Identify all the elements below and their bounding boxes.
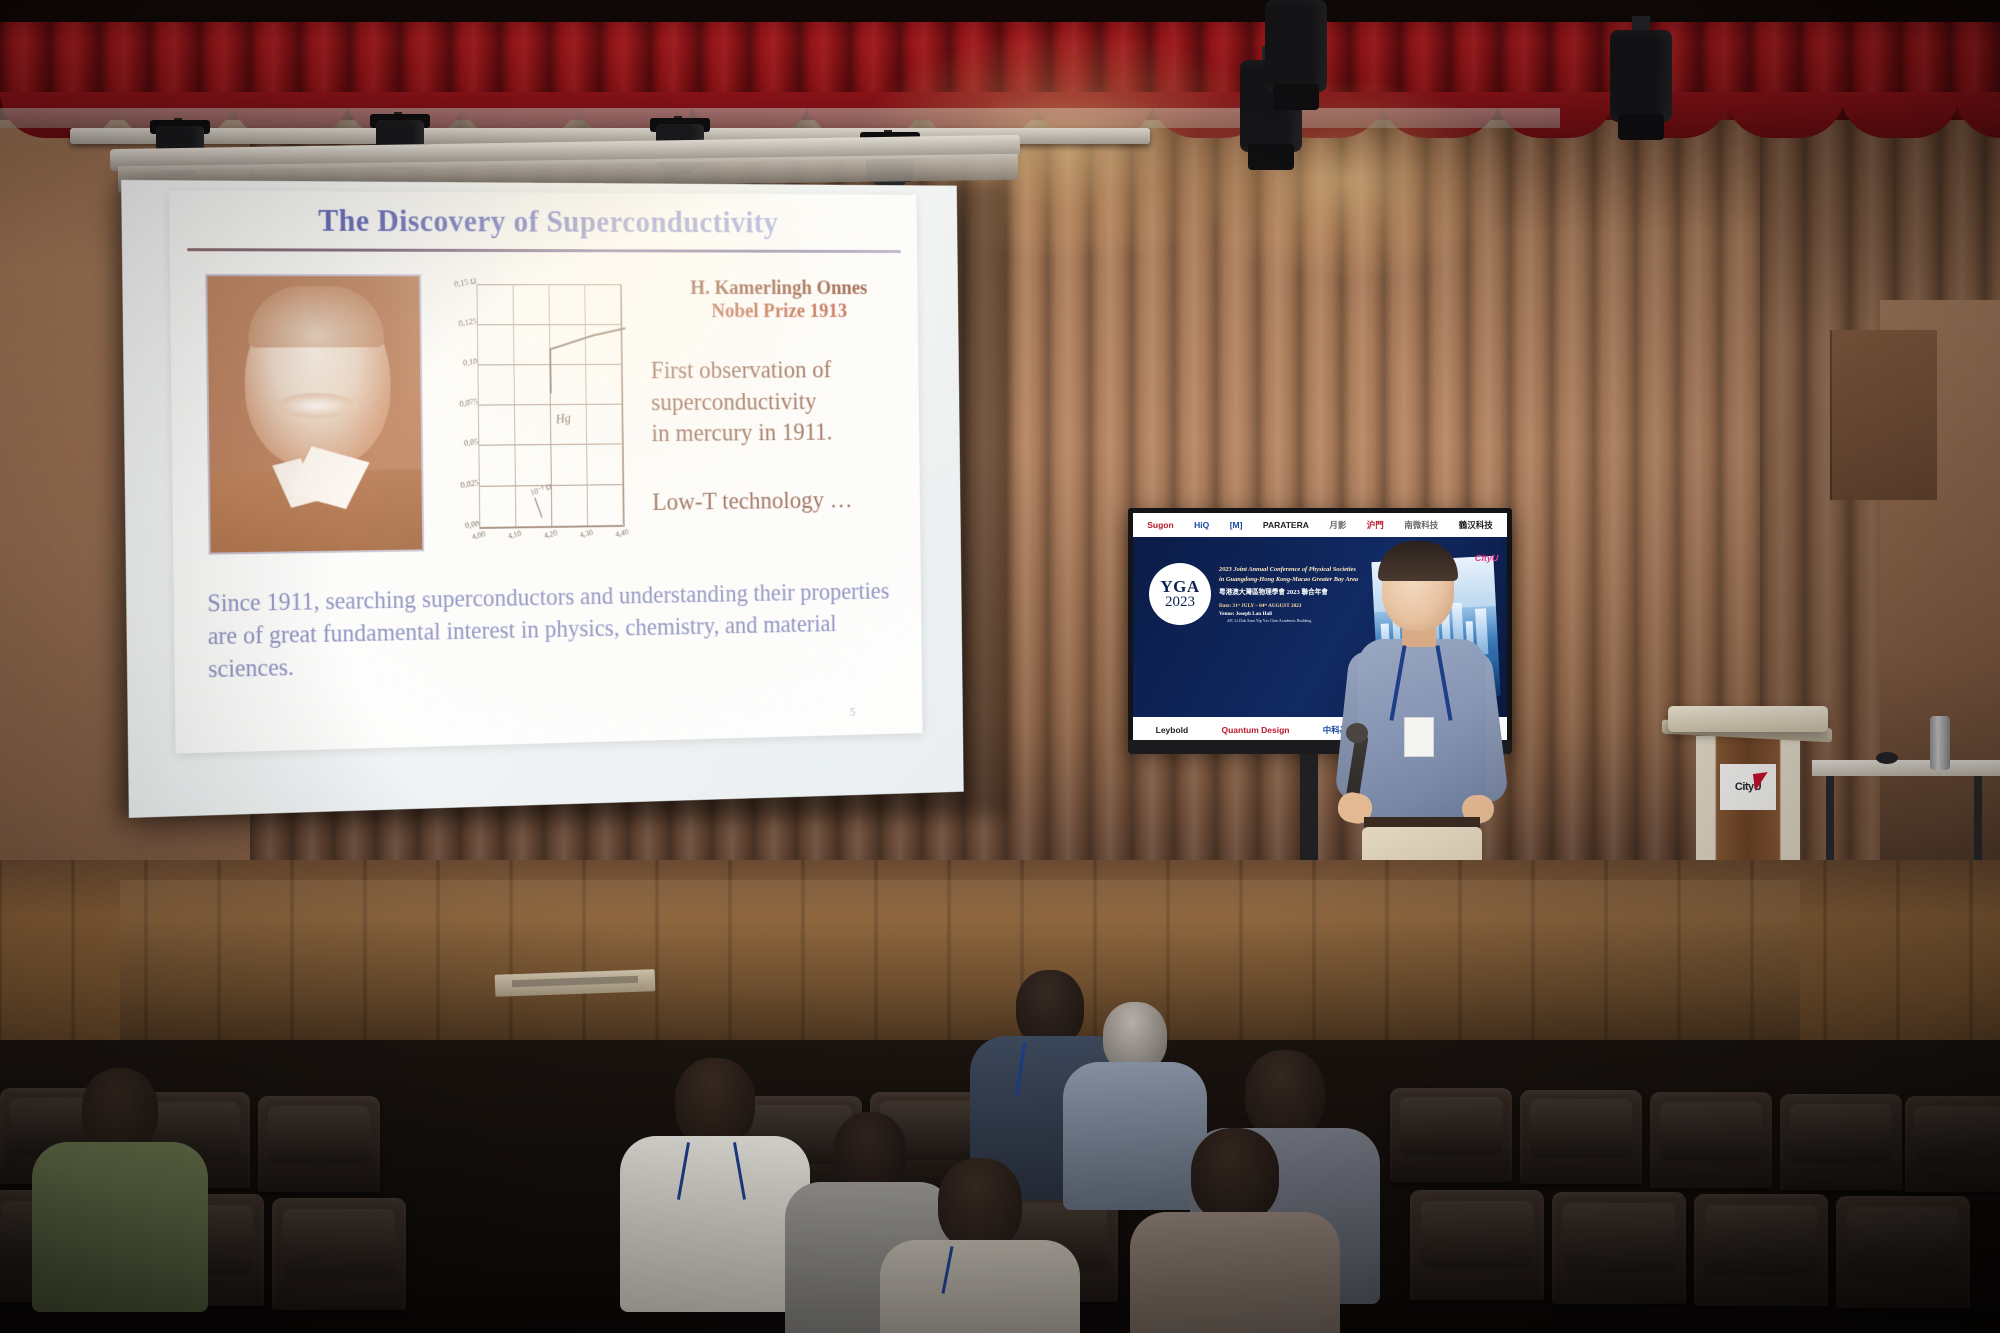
yga-badge-year: 2023 xyxy=(1165,595,1195,610)
projection-screen: The Discovery of Superconductivity xyxy=(121,180,964,818)
onnes-prize-line: Nobel Prize 1913 xyxy=(650,300,907,324)
lectern-top-surface xyxy=(1668,706,1828,732)
wall-acoustic-panel xyxy=(1830,330,1937,500)
onnes-name-caption: H. Kamerlingh Onnes Nobel Prize 1913 xyxy=(650,277,907,324)
slide-low-t-line: Low-T technology … xyxy=(652,486,909,516)
audience-seat xyxy=(1836,1196,1970,1308)
presentation-slide: The Discovery of Superconductivity xyxy=(169,190,923,753)
cityu-logo: CityU xyxy=(1720,764,1776,810)
slide-title: The Discovery of Superconductivity xyxy=(169,202,917,240)
chart-y-tick: 0,10 xyxy=(441,356,478,372)
lecture-hall-photograph: The Discovery of Superconductivity xyxy=(0,0,2000,1333)
audience-seat xyxy=(1520,1090,1642,1184)
audience-seat xyxy=(1390,1088,1512,1182)
sponsor-logo: [M] xyxy=(1230,520,1243,530)
audience-seat xyxy=(1694,1194,1828,1306)
audience-seating-area xyxy=(0,1040,2000,1333)
chart-y-tick: 0,075 xyxy=(441,396,478,412)
sponsor-logo: Sugon xyxy=(1147,520,1173,530)
audience-person xyxy=(1130,1128,1340,1333)
onnes-portrait-photo xyxy=(205,274,424,555)
sponsor-logo: Leybold xyxy=(1156,725,1189,735)
sponsor-logo: 沪門 xyxy=(1367,519,1384,531)
cityu-logo-flag-icon xyxy=(1753,772,1770,791)
sponsor-logo: HiQ xyxy=(1194,520,1209,530)
onnes-resistance-chart: 0,15 Ω 0,125 0,10 0,075 0,05 0,025 0,00 … xyxy=(444,274,632,549)
audience-person xyxy=(30,1068,210,1308)
audience-seat xyxy=(272,1198,406,1310)
slide-right-text-column: H. Kamerlingh Onnes Nobel Prize 1913 Fir… xyxy=(650,277,910,517)
sponsor-logo: 鶴汉科技 xyxy=(1459,519,1493,531)
chart-x-tick: 4,40 xyxy=(615,527,630,539)
audience-seat xyxy=(1905,1096,2000,1192)
slide-body-line: First observation of xyxy=(651,355,908,387)
slide-page-number: 5 xyxy=(850,705,856,719)
onnes-name-line: H. Kamerlingh Onnes xyxy=(650,277,907,300)
chart-y-tick: 0,05 xyxy=(442,436,479,452)
audience-seat xyxy=(1780,1094,1902,1190)
ceiling-strip xyxy=(0,0,2000,22)
chart-y-tick: 0,125 xyxy=(440,316,477,332)
side-table xyxy=(1812,760,2000,776)
slide-body-text: First observation of superconductivity i… xyxy=(651,355,909,450)
audience-seat xyxy=(258,1096,380,1192)
chart-x-tick: 4,00 xyxy=(471,529,486,541)
chart-y-tick: 0,025 xyxy=(442,477,479,493)
slide-body-line: superconductivity xyxy=(651,386,908,419)
audience-person xyxy=(880,1158,1080,1333)
sponsor-logo: PARATERA xyxy=(1263,520,1309,530)
sponsor-logo: 南微科技 xyxy=(1404,519,1438,531)
chart-annotation-hg: Hg xyxy=(555,410,572,427)
chart-x-tick: 4,10 xyxy=(507,529,522,541)
table-object xyxy=(1876,752,1898,764)
water-bottle xyxy=(1930,716,1950,770)
audience-seat xyxy=(1410,1190,1544,1300)
yga-badge-text: YGA xyxy=(1160,578,1199,595)
chart-x-tick: 4,20 xyxy=(543,528,558,540)
slide-summary-paragraph: Since 1911, searching superconductors an… xyxy=(207,576,905,686)
spotlight-can xyxy=(1600,30,1684,150)
presenter-name-badge xyxy=(1404,717,1434,757)
chart-y-tick: 0,15 Ω xyxy=(440,275,477,290)
slide-title-rule xyxy=(187,248,901,253)
stage-apron-lighting xyxy=(120,880,1800,1050)
sponsor-logo: Quantum Design xyxy=(1221,725,1289,735)
chart-x-tick: 4,30 xyxy=(579,528,594,540)
tv-sponsor-bar-top: Sugon HiQ [M] PARATERA 月影 沪門 南微科技 鶴汉科技 xyxy=(1133,513,1507,537)
spotlight-can xyxy=(1255,0,1339,120)
slide-body-line: in mercury in 1911. xyxy=(651,417,908,450)
yga-badge: YGA 2023 xyxy=(1149,563,1211,625)
sponsor-logo: 月影 xyxy=(1329,519,1346,531)
audience-seat xyxy=(1552,1192,1686,1304)
audience-seat xyxy=(1650,1092,1772,1188)
